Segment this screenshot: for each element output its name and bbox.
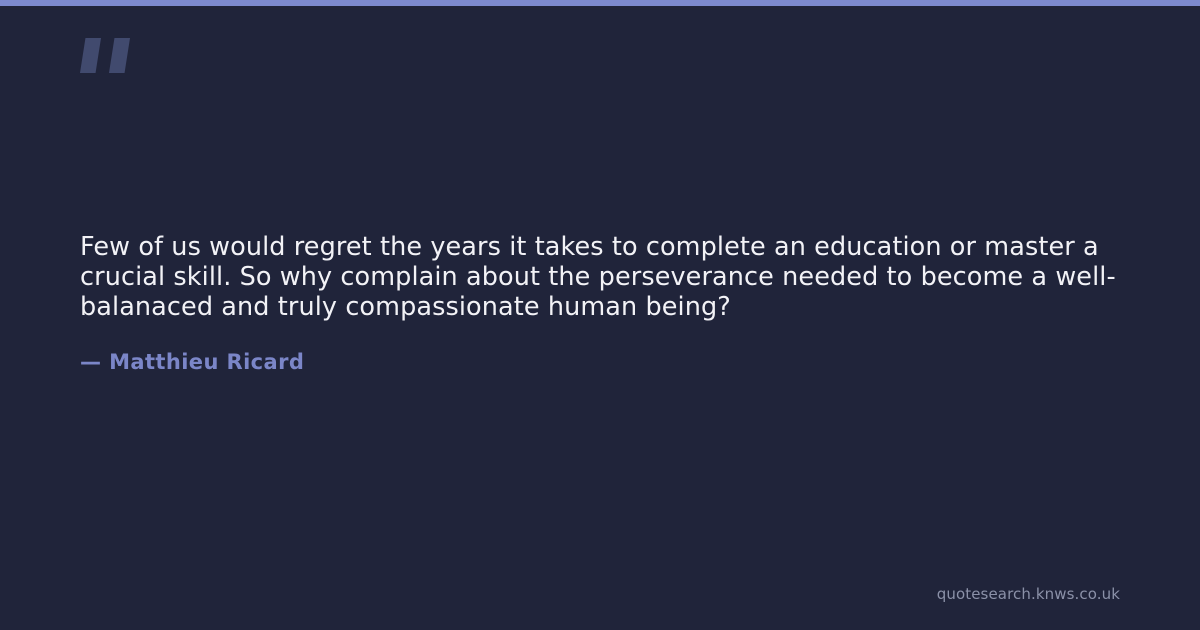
quote-text: Few of us would regret the years it take… [80, 232, 1125, 322]
quote-body: Few of us would regret the years it take… [80, 232, 1125, 322]
open-quote-icon-stroke-right [109, 38, 130, 73]
quote-attribution: — Matthieu Ricard [80, 348, 304, 376]
quote-card: Few of us would regret the years it take… [0, 0, 1200, 630]
site-watermark: quotesearch.knws.co.uk [937, 585, 1120, 603]
open-quote-icon [80, 38, 144, 82]
open-quote-icon-stroke-left [80, 38, 101, 73]
top-accent-bar [0, 0, 1200, 6]
